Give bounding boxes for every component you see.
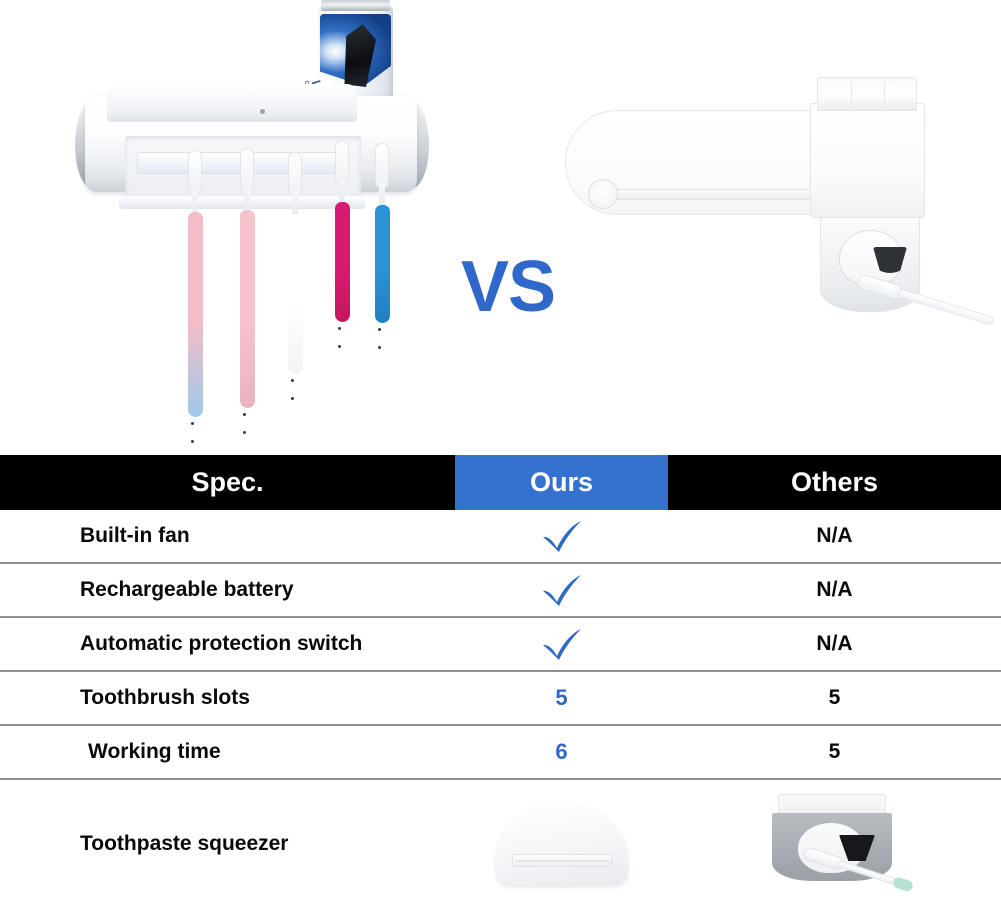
row-label: Automatic protection switch: [80, 618, 362, 670]
brush-head: [188, 150, 202, 194]
cell-others: N/A: [668, 618, 1001, 670]
row-label: Working time: [88, 726, 221, 778]
brush-handle: [375, 205, 390, 323]
cell-ours: 6: [455, 726, 668, 778]
product-comparison-infographic: White Glo CHARCOAL SERIES: [0, 0, 1001, 923]
row-label: Built-in fan: [80, 510, 190, 562]
cell-others: N/A: [668, 564, 1001, 616]
ours-value: 5: [555, 685, 567, 711]
competitor-toothbrush: [845, 273, 1001, 365]
table-row: Automatic protection switchN/A: [0, 618, 1001, 672]
brush-head: [375, 143, 389, 187]
brush-handle: [188, 212, 203, 417]
cell-ours: [455, 510, 668, 562]
tube-crimp-cap: [321, 0, 390, 11]
cell-ours: [455, 618, 668, 670]
table-header-row: Spec. Ours Others: [0, 455, 1001, 510]
squeezer-slot: [512, 854, 612, 867]
column-header-others: Others: [668, 455, 1001, 510]
cell-others: 5: [668, 672, 1001, 724]
brush-slot-bar: [119, 196, 365, 209]
row-label: Rechargeable battery: [80, 564, 294, 616]
row-label: Toothbrush slots: [80, 672, 250, 724]
cell-others: N/A: [668, 510, 1001, 562]
table-row: Toothbrush slots55: [0, 672, 1001, 726]
column-header-spec: Spec.: [0, 455, 455, 510]
comparison-table: Spec. Ours Others Built-in fanN/ARecharg…: [0, 455, 1001, 923]
competitor-squeezer-image: [762, 794, 907, 894]
indicator-dot: [260, 109, 265, 114]
table-row: Built-in fanN/A: [0, 510, 1001, 564]
brush-handle: [288, 214, 303, 374]
left-product-image: White Glo CHARCOAL SERIES: [70, 0, 440, 452]
vs-label: VS: [461, 246, 555, 328]
competitor-nozzle-opening: [873, 247, 907, 273]
brush-handle-tip: [191, 412, 200, 415]
cell-ours: [455, 564, 668, 616]
cell-ours: [455, 780, 668, 908]
hero-product-comparison: White Glo CHARCOAL SERIES: [0, 0, 1001, 452]
competitor-squeezer-top: [778, 794, 886, 814]
table-row: Working time65: [0, 726, 1001, 780]
brush-handle: [335, 202, 350, 322]
competitor-dispenser-cap: [817, 77, 917, 111]
competitor-dispenser-box: [810, 103, 925, 218]
toothpaste-squeezer-image: [496, 803, 628, 885]
table-row: Toothpaste squeezer: [0, 780, 1001, 908]
brush-handle-tip: [378, 318, 387, 321]
table-row: Rechargeable batteryN/A: [0, 564, 1001, 618]
check-icon: [540, 627, 584, 661]
table-body: Built-in fanN/ARechargeable batteryN/AAu…: [0, 510, 1001, 908]
brush-handle-tip: [243, 403, 252, 406]
competitor-brush-handle: [897, 288, 995, 326]
competitor-rail-slot: [594, 189, 816, 200]
row-label: Toothpaste squeezer: [80, 780, 288, 908]
column-header-ours: Ours: [455, 455, 668, 510]
brush-head: [240, 148, 254, 192]
competitor-squeezer-brush-tail: [892, 876, 914, 893]
competitor-squeezer-opening: [839, 835, 875, 861]
brush-handle-tip: [291, 369, 300, 372]
right-product-image: [555, 75, 1000, 345]
cell-others: [668, 780, 1001, 908]
brush-handle-tip: [338, 317, 347, 320]
sanitizer-lid: [107, 84, 357, 122]
cell-others: 5: [668, 726, 1001, 778]
cell-ours: 5: [455, 672, 668, 724]
brush-head: [335, 140, 349, 184]
brush-head: [288, 152, 302, 196]
competitor-rail-hole: [588, 179, 618, 209]
competitor-brush-rail: [565, 110, 815, 215]
ours-value: 6: [555, 739, 567, 765]
check-icon: [540, 573, 584, 607]
brush-handle: [240, 210, 255, 408]
check-icon: [540, 519, 584, 553]
